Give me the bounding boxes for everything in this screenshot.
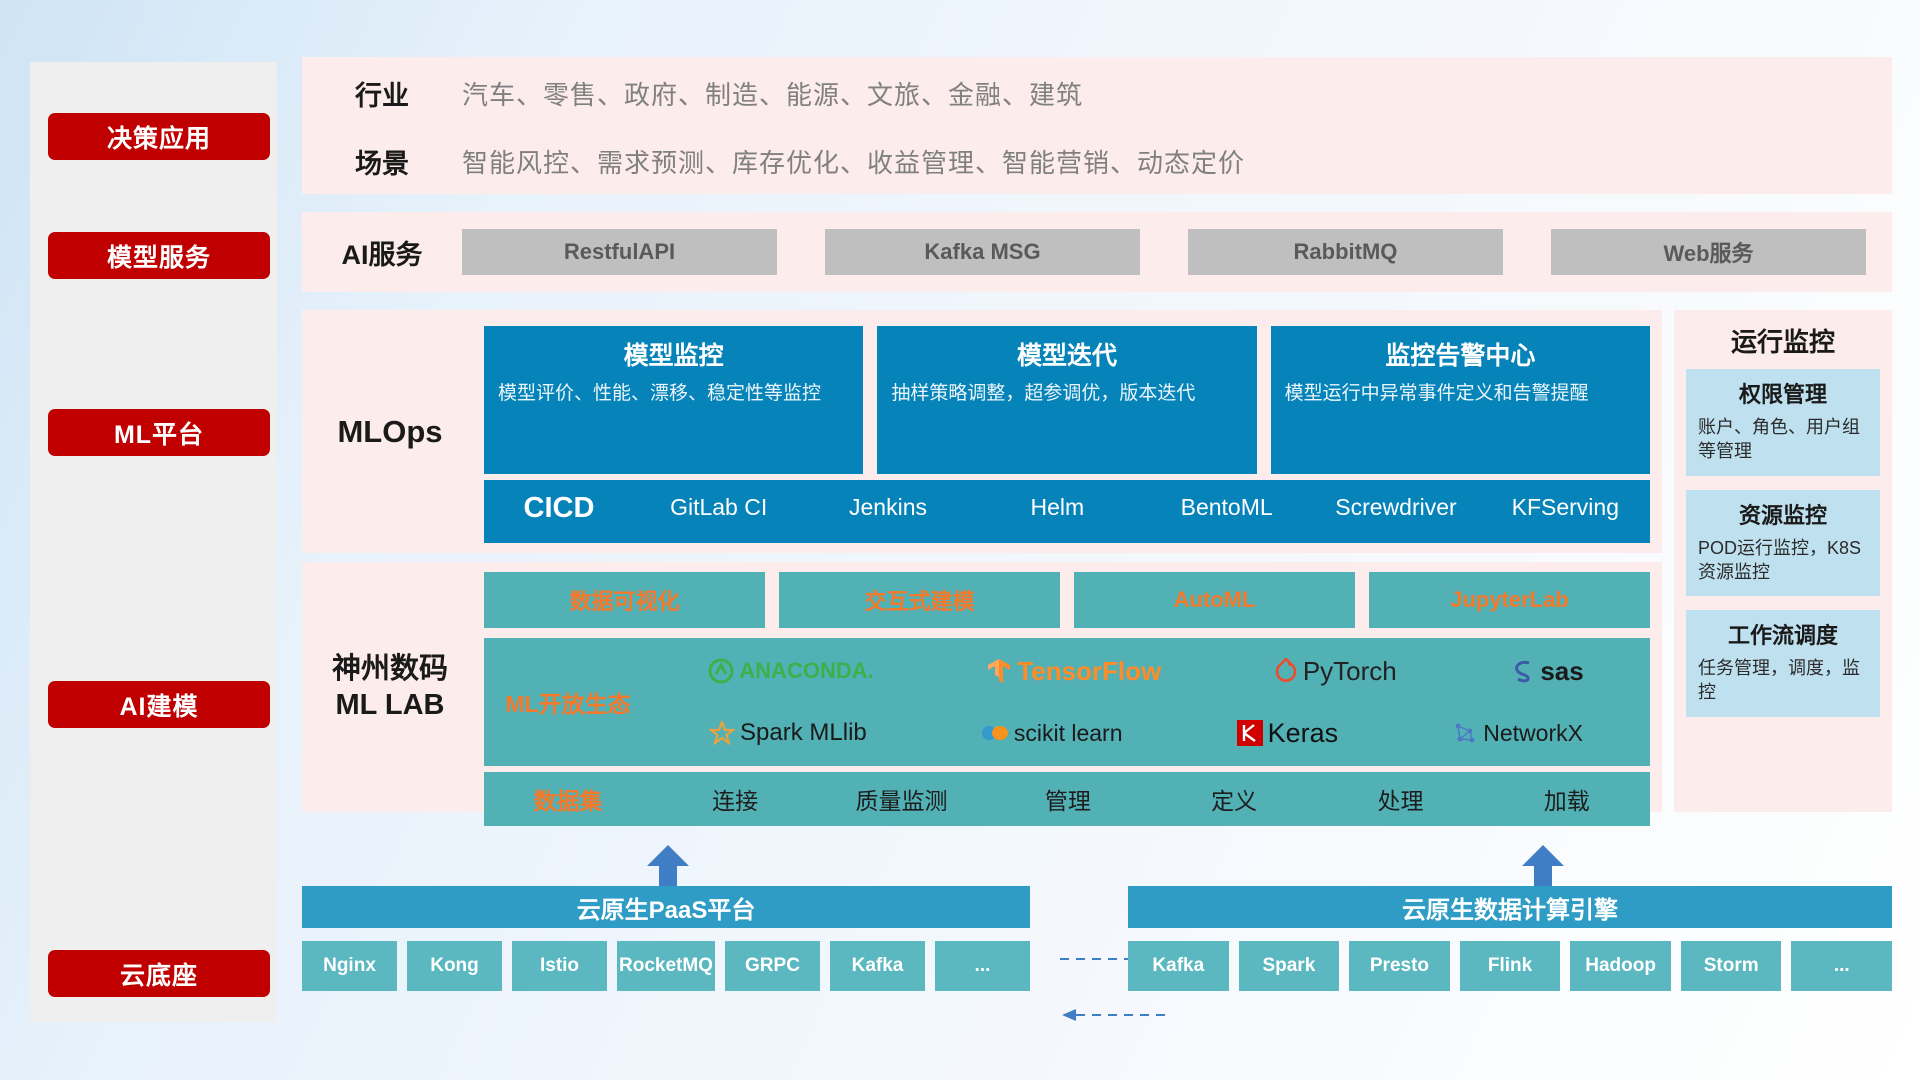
networkx-logo: NetworkX	[1452, 720, 1583, 747]
industry-label: 行业	[302, 74, 462, 113]
architecture-diagram: 决策应用 模型服务 ML平台 AI建模 云底座 行业 汽车、零售、政府、制造、能…	[0, 0, 1920, 1080]
industry-scenario-band: 行业 汽车、零售、政府、制造、能源、文旅、金融、建筑 场景 智能风控、需求预测、…	[302, 57, 1892, 194]
dataset-item-group: 连接 质量监测 管理 定义 处理 加载	[652, 782, 1650, 816]
mlops-card-model-iteration[interactable]: 模型迭代 抽样策略调整，超参调优，版本迭代	[877, 326, 1256, 474]
dataset-item-loading[interactable]: 加载	[1484, 782, 1650, 816]
cicd-item-gitlab-ci[interactable]: GitLab CI	[634, 480, 803, 521]
dataset-item-quality-monitoring[interactable]: 质量监测	[818, 782, 984, 816]
ml-lab-label-line1: 神州数码	[332, 651, 448, 687]
ai-service-label: AI服务	[302, 233, 462, 272]
scenario-row: 场景 智能风控、需求预测、库存优化、收益管理、智能营销、动态定价	[302, 127, 1892, 195]
sas-logo: sas	[1509, 656, 1583, 687]
rail-chip-ai-modeling[interactable]: AI建模	[48, 681, 270, 728]
ai-service-box-kafka-msg[interactable]: Kafka MSG	[825, 229, 1140, 275]
ml-ecosystem-logo-row-2: Spark MLlib scikit learn Keras	[652, 704, 1640, 762]
rail-chip-ml-platform[interactable]: ML平台	[48, 409, 270, 456]
cicd-item-helm[interactable]: Helm	[973, 480, 1142, 521]
mlops-card-desc: 抽样策略调整，超参调优，版本迭代	[891, 381, 1242, 407]
ml-ecosystem-row: ML开放生态 ANACONDA. TensorFlow	[484, 638, 1650, 766]
mlops-card-desc: 模型运行中异常事件定义和告警提醒	[1285, 381, 1636, 407]
mlops-card-title: 监控告警中心	[1285, 336, 1636, 372]
scenario-text: 智能风控、需求预测、库存优化、收益管理、智能营销、动态定价	[462, 143, 1245, 180]
rail-chip-model-service[interactable]: 模型服务	[48, 232, 270, 279]
paas-chip-kong[interactable]: Kong	[407, 941, 502, 991]
engine-chip-presto[interactable]: Presto	[1349, 941, 1450, 991]
cicd-item-screwdriver[interactable]: Screwdriver	[1311, 480, 1480, 521]
tool-box-data-visualization[interactable]: 数据可视化	[484, 572, 765, 628]
ai-modeling-content: 数据可视化 交互式建模 AutoML JupyterLab ML开放生态 ANA…	[484, 572, 1650, 826]
engine-chip-group: Kafka Spark Presto Flink Hadoop Storm ..…	[1128, 941, 1892, 991]
mlops-label: MLOps	[302, 310, 478, 553]
paas-chip-istio[interactable]: Istio	[512, 941, 607, 991]
tensorflow-logo-text: TensorFlow	[1017, 656, 1161, 687]
mlops-card-group: 模型监控 模型评价、性能、漂移、稳定性等监控 模型迭代 抽样策略调整，超参调优，…	[484, 326, 1650, 474]
monitor-card-workflow[interactable]: 工作流调度 任务管理，调度，监控	[1686, 610, 1880, 717]
keras-logo: Keras	[1237, 718, 1339, 749]
ai-service-band: AI服务 RestfulAPI Kafka MSG RabbitMQ Web服务	[302, 212, 1892, 292]
dataset-item-definition[interactable]: 定义	[1151, 782, 1317, 816]
engine-chip-flink[interactable]: Flink	[1460, 941, 1561, 991]
spark-mllib-logo: Spark MLlib	[709, 719, 867, 747]
anaconda-logo-text: ANACONDA.	[739, 658, 873, 684]
ai-modeling-band: 神州数码 ML LAB 数据可视化 交互式建模 AutoML JupyterLa…	[302, 562, 1662, 812]
engine-chip-hadoop[interactable]: Hadoop	[1570, 941, 1671, 991]
industry-row: 行业 汽车、零售、政府、制造、能源、文旅、金融、建筑	[302, 59, 1892, 127]
monitor-card-desc: POD运行监控，K8S资源监控	[1698, 536, 1868, 585]
cicd-title: CICD	[484, 480, 634, 525]
rail-chip-cloud-base[interactable]: 云底座	[48, 950, 270, 997]
dataset-item-processing[interactable]: 处理	[1317, 782, 1483, 816]
ml-lab-label-line2: ML LAB	[335, 687, 444, 723]
runtime-monitoring-band: 运行监控 权限管理 账户、角色、用户组等管理 资源监控 POD运行监控，K8S资…	[1674, 310, 1892, 812]
scikit-learn-logo: scikit learn	[981, 720, 1123, 747]
mlops-card-title: 模型监控	[498, 336, 849, 372]
cicd-item-group: GitLab CI Jenkins Helm BentoML Screwdriv…	[634, 480, 1650, 521]
ml-ecosystem-logos: ANACONDA. TensorFlow PyTorch	[652, 642, 1650, 762]
mlops-band: MLOps 模型监控 模型评价、性能、漂移、稳定性等监控 模型迭代 抽样策略调整…	[302, 310, 1662, 553]
pytorch-logo: PyTorch	[1274, 656, 1397, 687]
engine-chip-storm[interactable]: Storm	[1681, 941, 1782, 991]
sas-logo-text: sas	[1540, 656, 1583, 687]
monitor-card-title: 资源监控	[1698, 498, 1868, 530]
ai-service-box-rabbitmq[interactable]: RabbitMQ	[1188, 229, 1503, 275]
mlops-card-title: 模型迭代	[891, 336, 1242, 372]
dataset-label: 数据集	[484, 782, 652, 816]
ai-service-box-web-service[interactable]: Web服务	[1551, 229, 1866, 275]
paas-chip-group: Nginx Kong Istio RocketMQ GRPC Kafka ...	[302, 941, 1030, 991]
tool-box-jupyterlab[interactable]: JupyterLab	[1369, 572, 1650, 628]
monitor-card-resource[interactable]: 资源监控 POD运行监控，K8S资源监控	[1686, 490, 1880, 597]
paas-chip-kafka[interactable]: Kafka	[830, 941, 925, 991]
dataset-item-connect[interactable]: 连接	[652, 782, 818, 816]
cicd-item-kfserving[interactable]: KFServing	[1481, 480, 1650, 521]
scikit-learn-logo-text: scikit learn	[1014, 720, 1123, 747]
ml-lab-label: 神州数码 ML LAB	[302, 562, 478, 812]
ai-service-box-group: RestfulAPI Kafka MSG RabbitMQ Web服务	[462, 229, 1892, 275]
tool-box-automl[interactable]: AutoML	[1074, 572, 1355, 628]
modeling-tool-group: 数据可视化 交互式建模 AutoML JupyterLab	[484, 572, 1650, 628]
cicd-item-jenkins[interactable]: Jenkins	[803, 480, 972, 521]
cloud-base-section: 云原生PaaS平台 Nginx Kong Istio RocketMQ GRPC…	[302, 886, 1892, 1036]
engine-chip-more[interactable]: ...	[1791, 941, 1892, 991]
paas-chip-rocketmq[interactable]: RocketMQ	[617, 941, 715, 991]
monitor-card-desc: 账户、角色、用户组等管理	[1698, 415, 1868, 464]
ml-ecosystem-label: ML开放生态	[484, 685, 652, 719]
monitor-card-permission[interactable]: 权限管理 账户、角色、用户组等管理	[1686, 369, 1880, 476]
keras-logo-text: Keras	[1268, 718, 1339, 749]
engine-chip-spark[interactable]: Spark	[1239, 941, 1340, 991]
cicd-item-bentoml[interactable]: BentoML	[1142, 480, 1311, 521]
mlops-card-desc: 模型评价、性能、漂移、稳定性等监控	[498, 381, 849, 407]
dataset-item-management[interactable]: 管理	[985, 782, 1151, 816]
cicd-bar: CICD GitLab CI Jenkins Helm BentoML Scre…	[484, 480, 1650, 543]
tool-box-interactive-modeling[interactable]: 交互式建模	[779, 572, 1060, 628]
spark-mllib-logo-text: Spark MLlib	[740, 719, 867, 747]
runtime-monitoring-title: 运行监控	[1674, 310, 1892, 369]
ml-ecosystem-logo-row-1: ANACONDA. TensorFlow PyTorch	[652, 642, 1640, 700]
rail-chip-decision-app[interactable]: 决策应用	[48, 113, 270, 160]
industry-text: 汽车、零售、政府、制造、能源、文旅、金融、建筑	[462, 75, 1083, 112]
engine-chip-kafka[interactable]: Kafka	[1128, 941, 1229, 991]
paas-chip-grpc[interactable]: GRPC	[725, 941, 820, 991]
tensorflow-logo: TensorFlow	[986, 656, 1161, 687]
paas-platform-bar[interactable]: 云原生PaaS平台	[302, 886, 1030, 928]
left-rail	[30, 62, 277, 1022]
mlops-card-model-monitoring[interactable]: 模型监控 模型评价、性能、漂移、稳定性等监控	[484, 326, 863, 474]
monitor-card-title: 权限管理	[1698, 377, 1868, 409]
pytorch-logo-text: PyTorch	[1303, 656, 1397, 687]
data-compute-engine-bar[interactable]: 云原生数据计算引擎	[1128, 886, 1892, 928]
networkx-logo-text: NetworkX	[1483, 720, 1583, 747]
paas-chip-more[interactable]: ...	[935, 941, 1030, 991]
dataset-row: 数据集 连接 质量监测 管理 定义 处理 加载	[484, 772, 1650, 826]
paas-chip-nginx[interactable]: Nginx	[302, 941, 397, 991]
monitor-card-desc: 任务管理，调度，监控	[1698, 656, 1868, 705]
monitor-card-title: 工作流调度	[1698, 618, 1868, 650]
mlops-card-alert-center[interactable]: 监控告警中心 模型运行中异常事件定义和告警提醒	[1271, 326, 1650, 474]
ai-service-box-restfulapi[interactable]: RestfulAPI	[462, 229, 777, 275]
anaconda-logo: ANACONDA.	[708, 658, 873, 684]
scenario-label: 场景	[302, 142, 462, 181]
